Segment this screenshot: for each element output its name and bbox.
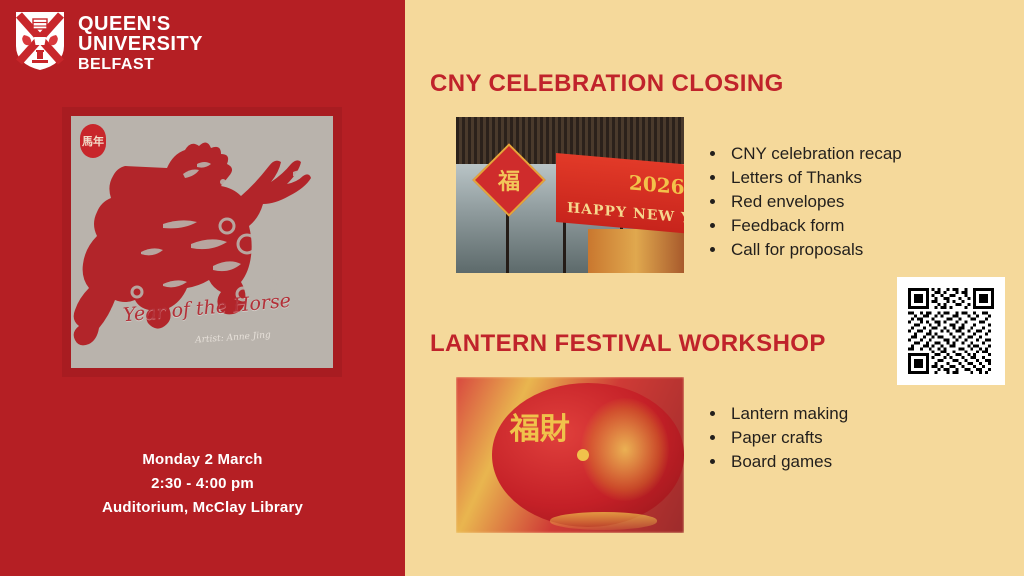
poster-artwork: 馬年 — [71, 116, 333, 368]
logo-line-university: UNIVERSITY — [78, 34, 203, 54]
list-item: Board games — [727, 450, 848, 474]
right-content-panel: CNY CELEBRATION CLOSING 福 2026 HAPPY NEW… — [405, 0, 1024, 576]
new-year-banner: 2026 HAPPY NEW YEAR — [556, 153, 684, 234]
list-item: Paper crafts — [727, 426, 848, 450]
year-of-the-horse-poster: 馬年 — [62, 107, 342, 377]
queens-university-crest-icon — [14, 10, 66, 72]
lantern-workshop-bullet-list: Lantern making Paper crafts Board games — [705, 402, 848, 474]
section-heading-cny-closing: CNY CELEBRATION CLOSING — [430, 70, 784, 98]
cny-closing-bullet-list: CNY celebration recap Letters of Thanks … — [705, 142, 902, 262]
slide: QUEEN'S UNIVERSITY BELFAST 馬年 — [0, 0, 1024, 576]
list-item: Feedback form — [727, 214, 902, 238]
section-heading-lantern-workshop: LANTERN FESTIVAL WORKSHOP — [430, 330, 826, 358]
photo-shopfront — [588, 229, 684, 273]
gold-dragon-motif — [581, 398, 669, 501]
list-item: Letters of Thanks — [727, 166, 902, 190]
logo-line-queens: QUEEN'S — [78, 14, 203, 34]
lantern-rim — [550, 512, 657, 529]
cny-banner-photo: 福 2026 HAPPY NEW YEAR — [456, 117, 684, 273]
red-lantern-dragon-photo: 福財 — [456, 377, 684, 533]
list-item: Red envelopes — [727, 190, 902, 214]
qr-code-icon[interactable] — [908, 288, 994, 374]
banner-year: 2026 — [629, 170, 684, 199]
red-lantern: 福財 — [492, 383, 684, 527]
list-item: Lantern making — [727, 402, 848, 426]
qr-code-card[interactable] — [897, 277, 1005, 385]
event-date: Monday 2 March — [0, 448, 405, 472]
queens-university-logo: QUEEN'S UNIVERSITY BELFAST — [14, 10, 203, 75]
logo-line-belfast: BELFAST — [78, 55, 203, 75]
list-item: Call for proposals — [727, 238, 902, 262]
left-red-panel: QUEEN'S UNIVERSITY BELFAST 馬年 — [0, 0, 405, 576]
lantern-characters: 福財 — [510, 415, 570, 445]
papercut-horse-icon — [71, 116, 333, 368]
list-item: CNY celebration recap — [727, 142, 902, 166]
event-time: 2:30 - 4:00 pm — [0, 472, 405, 496]
dragon-pearl — [577, 449, 589, 461]
event-venue: Auditorium, McClay Library — [0, 496, 405, 520]
event-details: Monday 2 March 2:30 - 4:00 pm Auditorium… — [0, 448, 405, 520]
fu-character: 福 — [498, 164, 520, 196]
